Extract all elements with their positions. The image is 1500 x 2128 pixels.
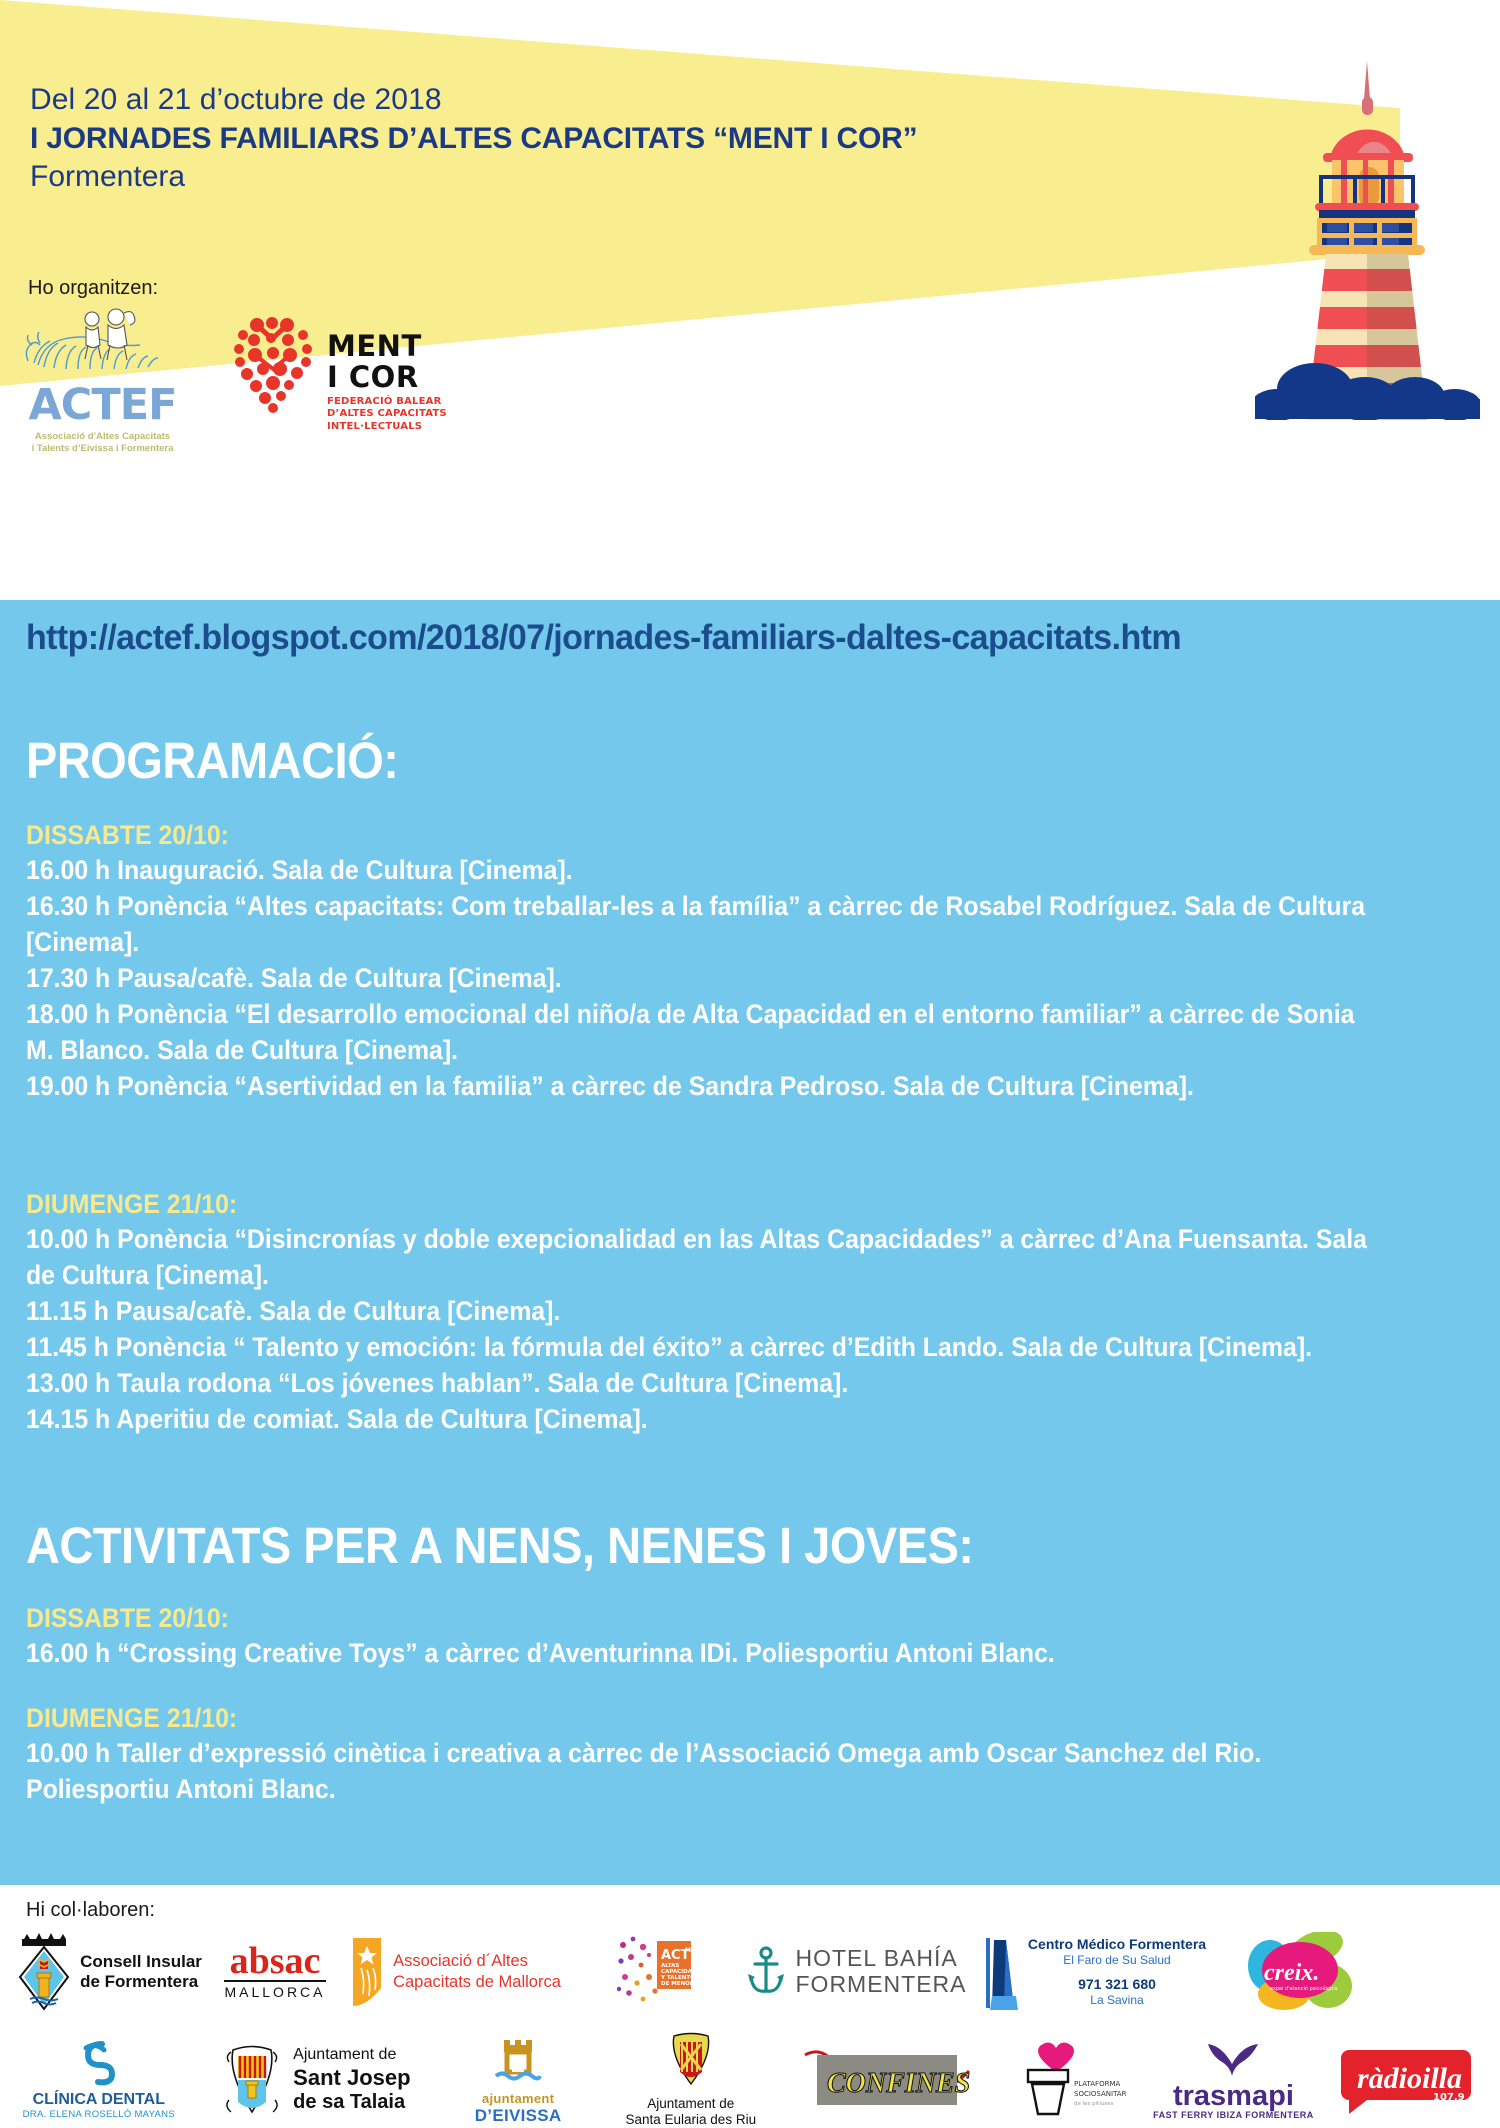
poster-body: PROGRAMACIÓ: DISSABTE 20/10: 16.00 h Ina… [0, 700, 1500, 1885]
program-day-label-sunday: DIUMENGE 21/10: [26, 1186, 1382, 1222]
santa-eularia-shield-icon [666, 2032, 716, 2088]
collaborators-row-2: CLÍNICA DENTAL DRA. ELENA ROSELLÓ MAYANS… [10, 2037, 1490, 2123]
formentera-shield-icon [18, 1933, 70, 2011]
aacm-line2: Capacitats de Mallorca [393, 1972, 561, 1993]
poster-header: Del 20 al 21 d’octubre de 2018 I JORNADE… [0, 0, 1500, 600]
clinica-line2: DRA. ELENA ROSELLÓ MAYANS [23, 2109, 175, 2120]
actef-wordmark: ACTEF [20, 384, 185, 427]
collaborators-label: Hi col·laboren: [26, 1899, 155, 1922]
svg-text:DE MENORCA: DE MENORCA [661, 1981, 695, 1987]
eivissa-tower-icon [488, 2034, 548, 2084]
plataforma-line3: de les pitiuses [1074, 2101, 1114, 2107]
program-entry: 10.00 h Ponència “Disincronías y doble e… [26, 1222, 1382, 1294]
url-band: http://actef.blogspot.com/2018/07/jornad… [0, 600, 1500, 700]
plataforma-line1: PLATAFORMA [1074, 2080, 1120, 2088]
consell-line1: Consell Insular [80, 1952, 202, 1972]
program-day-label-saturday: DISSABTE 20/10: [26, 817, 1382, 853]
activity-entry: 16.00 h “Crossing Creative Toys” a càrre… [26, 1636, 1055, 1672]
sjt-line1: Ajuntament de [293, 2046, 410, 2065]
creix-blobs-icon: creix. espai d'atenció psicològica [1244, 1932, 1356, 2012]
lighthouse-mark-icon [984, 1932, 1020, 2012]
clinica-line1: CLÍNICA DENTAL [23, 2091, 175, 2109]
ment-i-cor-word-line1: MENT [327, 333, 447, 361]
collaborators-row-1: Consell Insular de Formentera absac MALL… [10, 1929, 1490, 2015]
program-entry: 11.45 h Ponència “ Talento y emoción: la… [26, 1330, 1382, 1366]
trasmapi-word: trasmapi [1153, 2083, 1314, 2111]
trasmapi-logo: trasmapi FAST FERRY IBIZA FORMENTERA [1145, 2037, 1323, 2123]
ajuntament-de-santa-eularia-des-riu-logo: Ajuntament de Santa Eularia des Riu [592, 2037, 789, 2123]
sjt-line3: de sa Talaia [293, 2091, 410, 2115]
trasmapi-wave-icon [1202, 2040, 1264, 2078]
radio-illa-bubble-icon: ràdioilla 107.9 [1341, 2044, 1471, 2116]
zebra-with-children-icon [20, 305, 185, 383]
event-url[interactable]: http://actef.blogspot.com/2018/07/jornad… [26, 618, 1181, 658]
associacio-altes-capacitats-mallorca-logo: Associació d´Altes Capacitats de Mallorc… [340, 1929, 570, 2015]
activities-heading: ACTIVITATS PER A NENS, NENES I JOVES: [26, 1520, 974, 1571]
flame-star-icon [349, 1936, 385, 2008]
sjt-line2: Sant Josep [293, 2065, 410, 2091]
absac-mallorca-logo: absac MALLORCA [210, 1929, 340, 2015]
activities-day-label-sunday: DIUMENGE 21/10: [26, 1700, 1382, 1736]
consell-insular-de-formentera-logo: Consell Insular de Formentera [10, 1929, 210, 2015]
tooth-swirl-icon [76, 2040, 122, 2086]
poster-footer: Hi col·laboren: Consell Insular de Forme… [0, 1885, 1500, 2121]
program-entry: 19.00 h Ponència “Asertividad en la fami… [26, 1069, 1382, 1105]
act-menorca-logo: ACT M ALTAS CAPACIDADES Y TALENTOS DE ME… [570, 1929, 740, 2015]
program-entry: 11.15 h Pausa/cafè. Sala de Cultura [Cin… [26, 1294, 1382, 1330]
hotel-bahia-formentera-logo: HOTEL BAHÍA FORMENTERA [740, 1929, 970, 2015]
clinica-dental-logo: CLÍNICA DENTAL DRA. ELENA ROSELLÓ MAYANS [10, 2037, 188, 2123]
act-dots-network-icon: ACT M ALTAS CAPACIDADES Y TALENTOS DE ME… [615, 1931, 695, 2013]
activities-day-label-saturday: DISSABTE 20/10: [26, 1600, 1055, 1636]
radio-illa-word: ràdioilla [1357, 2062, 1462, 2095]
event-place: Formentera [30, 159, 917, 196]
program-entry: 17.30 h Pausa/cafè. Sala de Cultura [Cin… [26, 961, 1382, 997]
federation-line1: FEDERACIÓ BALEAR [327, 396, 447, 409]
eivissa-line1: ajuntament [475, 2091, 562, 2106]
creix-word: creix. [1264, 1960, 1319, 1986]
actef-subtitle-line2: i Talents d’Eivissa i Formentera [20, 443, 185, 455]
lighthouse-icon [1255, 55, 1480, 420]
radio-illa-freq: 107.9 [1433, 2092, 1465, 2103]
program-heading: PROGRAMACIÓ: [26, 735, 398, 786]
program-entry: 16.00 h Inauguració. Sala de Cultura [Ci… [26, 853, 1382, 889]
flowerpot-heart-icon: PLATAFORMA SOCIOSANITARIA de les pitiuse… [1006, 2040, 1126, 2120]
sant-josep-shield-icon [221, 2040, 283, 2120]
svg-text:espai d'atenció psicològica: espai d'atenció psicològica [1270, 1985, 1337, 1992]
plataforma-line2: SOCIOSANITARIA [1074, 2090, 1126, 2098]
cmf-line1: Centro Médico Formentera [1028, 1935, 1206, 1953]
ajuntament-de-sant-josep-de-sa-talaia-logo: Ajuntament de Sant Josep de sa Talaia [188, 2037, 445, 2123]
program-entry: 13.00 h Taula rodona “Los jóvenes hablan… [26, 1366, 1382, 1402]
confines-logo: CONFINES [789, 2037, 986, 2123]
cmf-line4: La Savina [1028, 1993, 1206, 2009]
federation-line3: INTEL·LECTUALS [327, 421, 447, 434]
organizers-row: ACTEF Associació d’Altes Capacitats i Ta… [20, 305, 447, 455]
actef-subtitle-line1: Associació d’Altes Capacitats [20, 431, 185, 443]
ser-line1: Ajuntament de [626, 2096, 757, 2112]
event-title: I JORNADES FAMILIARS D’ALTES CAPACITATS … [30, 121, 917, 158]
ment-i-cor-word-line2: I COR [327, 363, 447, 392]
absac-word: absac [224, 1944, 325, 1978]
confines-banner-icon: CONFINES [803, 2047, 973, 2113]
aacm-line1: Associació d´Altes [393, 1951, 561, 1972]
ser-line2: Santa Eularia des Riu [626, 2112, 757, 2128]
heart-dots-icon [227, 309, 319, 414]
plataforma-sociosanitaria-logo: PLATAFORMA SOCIOSANITARIA de les pitiuse… [987, 2037, 1145, 2123]
hotel-line1: HOTEL BAHÍA [796, 1946, 967, 1972]
creix-logo: creix. espai d'atenció psicològica [1220, 1929, 1380, 2015]
consell-line2: de Formentera [80, 1972, 202, 1992]
federation-line2: D’ALTES CAPACITATS [327, 408, 447, 421]
ajuntament-deivissa-logo: ajuntament D’EIVISSA [444, 2037, 592, 2123]
hotel-line2: FORMENTERA [796, 1972, 967, 1998]
cmf-phone: 971 321 680 [1028, 1975, 1206, 1993]
confines-word: CONFINES [827, 2068, 970, 2099]
organizers-label: Ho organitzen: [28, 277, 158, 300]
activity-entry: 10.00 h Taller d’expressió cinètica i cr… [26, 1736, 1382, 1808]
event-date: Del 20 al 21 d’octubre de 2018 [30, 82, 917, 119]
trasmapi-sub: FAST FERRY IBIZA FORMENTERA [1153, 2110, 1314, 2120]
eivissa-line2: D’EIVISSA [475, 2106, 562, 2126]
svg-text:M: M [685, 1947, 691, 1954]
ment-i-cor-logo: MENT I COR FEDERACIÓ BALEAR D’ALTES CAPA… [227, 305, 447, 433]
program-entry: 18.00 h Ponència “El desarrollo emociona… [26, 997, 1382, 1069]
radio-illa-logo: ràdioilla 107.9 [1322, 2037, 1490, 2123]
header-text-block: Del 20 al 21 d’octubre de 2018 I JORNADE… [30, 82, 917, 196]
actef-logo: ACTEF Associació d’Altes Capacitats i Ta… [20, 305, 185, 455]
centro-medico-formentera-logo: Centro Médico Formentera El Faro de Su S… [970, 1929, 1220, 2015]
cmf-line2: El Faro de Su Salud [1028, 1953, 1206, 1969]
program-entry: 16.30 h Ponència “Altes capacitats: Com … [26, 889, 1382, 961]
anchor-icon [744, 1944, 788, 2000]
absac-sub: MALLORCA [224, 1980, 325, 2000]
program-entry: 14.15 h Aperitiu de comiat. Sala de Cult… [26, 1402, 1382, 1438]
